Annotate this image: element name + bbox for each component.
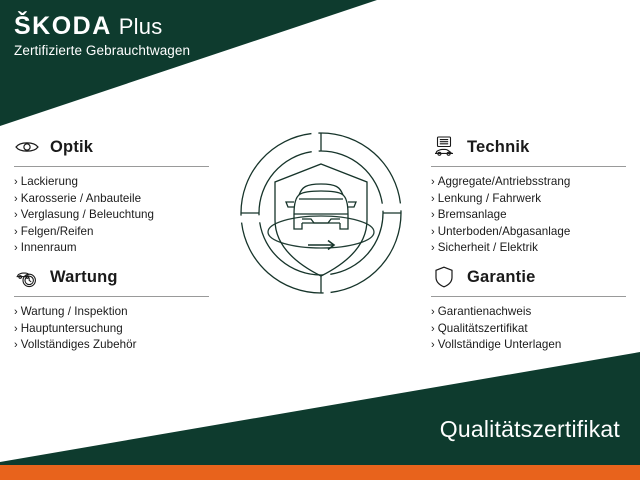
section-item-list: ›Lackierung ›Karosserie / Anbauteile ›Ve… bbox=[14, 174, 209, 257]
list-item: ›Verglasung / Beleuchtung bbox=[14, 207, 209, 224]
section-title: Optik bbox=[50, 138, 93, 157]
section-divider bbox=[431, 166, 626, 167]
list-item: ›Felgen/Reifen bbox=[14, 224, 209, 241]
section-title: Technik bbox=[467, 138, 530, 157]
list-item: ›Aggregate/Antriebsstrang bbox=[431, 174, 626, 191]
list-item-label: Unterboden/Abgasanlage bbox=[438, 225, 571, 238]
section-wartung: Wartung ›Wartung / Inspektion ›Hauptunte… bbox=[14, 262, 209, 354]
section-divider bbox=[14, 296, 209, 297]
list-item-label: Bremsanlage bbox=[438, 208, 507, 221]
section-optik: Optik ›Lackierung ›Karosserie / Anbautei… bbox=[14, 132, 209, 257]
list-item-label: Felgen/Reifen bbox=[21, 225, 94, 238]
brand-suffix: Plus bbox=[119, 16, 163, 38]
footer-headline: Qualitätszertifikat bbox=[440, 418, 620, 441]
list-item-label: Aggregate/Antriebsstrang bbox=[438, 175, 571, 188]
section-item-list: ›Aggregate/Antriebsstrang ›Lenkung / Fah… bbox=[431, 174, 626, 257]
list-item-label: Lenkung / Fahrwerk bbox=[438, 192, 541, 205]
chevron-right-icon: › bbox=[431, 176, 435, 188]
list-item: ›Lenkung / Fahrwerk bbox=[431, 191, 626, 208]
list-item-label: Verglasung / Beleuchtung bbox=[21, 208, 154, 221]
section-technik: Technik ›Aggregate/Antriebsstrang ›Lenku… bbox=[431, 132, 626, 257]
shield-icon bbox=[431, 264, 457, 290]
section-title: Wartung bbox=[50, 268, 118, 287]
chevron-right-icon: › bbox=[431, 226, 435, 238]
section-title: Garantie bbox=[467, 268, 536, 287]
list-item: ›Vollständige Unterlagen bbox=[431, 337, 626, 354]
list-item: ›Lackierung bbox=[14, 174, 209, 191]
brand-logo: ŠKODA Plus Zertifizierte Gebrauchtwagen bbox=[14, 14, 190, 59]
section-header: Wartung bbox=[14, 262, 209, 292]
list-item-label: Innenraum bbox=[21, 241, 77, 254]
brand-name: ŠKODA bbox=[14, 14, 112, 39]
certificate-page: ŠKODA Plus Zertifizierte Gebrauchtwagen … bbox=[0, 0, 640, 480]
chevron-right-icon: › bbox=[14, 323, 18, 335]
section-item-list: ›Wartung / Inspektion ›Hauptuntersuchung… bbox=[14, 304, 209, 354]
list-item: ›Unterboden/Abgasanlage bbox=[431, 224, 626, 241]
list-item-label: Sicherheit / Elektrik bbox=[438, 241, 538, 254]
list-item-label: Karosserie / Anbauteile bbox=[21, 192, 141, 205]
bottom-green-wedge bbox=[0, 340, 640, 466]
chevron-right-icon: › bbox=[14, 176, 18, 188]
list-item: ›Garantienachweis bbox=[431, 304, 626, 321]
list-item: ›Bremsanlage bbox=[431, 207, 626, 224]
brand-tagline: Zertifizierte Gebrauchtwagen bbox=[14, 44, 190, 59]
list-item-label: Garantienachweis bbox=[438, 305, 532, 318]
list-item: ›Sicherheit / Elektrik bbox=[431, 240, 626, 257]
chevron-right-icon: › bbox=[14, 209, 18, 221]
chevron-right-icon: › bbox=[14, 226, 18, 238]
section-header: Technik bbox=[431, 132, 626, 162]
shield-car-inspection-emblem bbox=[236, 128, 406, 298]
list-item: ›Karosserie / Anbauteile bbox=[14, 191, 209, 208]
section-divider bbox=[14, 166, 209, 167]
car-clock-icon bbox=[14, 264, 40, 290]
car-lift-icon bbox=[431, 134, 457, 160]
list-item-label: Vollständiges Zubehör bbox=[21, 338, 137, 351]
eye-icon bbox=[14, 134, 40, 160]
bottom-orange-bar bbox=[0, 465, 640, 480]
section-header: Optik bbox=[14, 132, 209, 162]
list-item: ›Innenraum bbox=[14, 240, 209, 257]
list-item-label: Lackierung bbox=[21, 175, 78, 188]
list-item: ›Wartung / Inspektion bbox=[14, 304, 209, 321]
chevron-right-icon: › bbox=[14, 193, 18, 205]
list-item-label: Vollständige Unterlagen bbox=[438, 338, 562, 351]
section-divider bbox=[431, 296, 626, 297]
chevron-right-icon: › bbox=[431, 193, 435, 205]
section-header: Garantie bbox=[431, 262, 626, 292]
section-garantie: Garantie ›Garantienachweis ›Qualitätszer… bbox=[431, 262, 626, 354]
chevron-right-icon: › bbox=[431, 306, 435, 318]
section-item-list: ›Garantienachweis ›Qualitätszertifikat ›… bbox=[431, 304, 626, 354]
list-item: ›Qualitätszertifikat bbox=[431, 321, 626, 338]
chevron-right-icon: › bbox=[431, 339, 435, 351]
list-item-label: Hauptuntersuchung bbox=[21, 322, 123, 335]
chevron-right-icon: › bbox=[431, 209, 435, 221]
list-item-label: Qualitätszertifikat bbox=[438, 322, 528, 335]
chevron-right-icon: › bbox=[14, 242, 18, 254]
list-item: ›Vollständiges Zubehör bbox=[14, 337, 209, 354]
chevron-right-icon: › bbox=[14, 339, 18, 351]
brand-logo-line: ŠKODA Plus bbox=[14, 14, 190, 39]
chevron-right-icon: › bbox=[431, 242, 435, 254]
chevron-right-icon: › bbox=[431, 323, 435, 335]
chevron-right-icon: › bbox=[14, 306, 18, 318]
list-item: ›Hauptuntersuchung bbox=[14, 321, 209, 338]
list-item-label: Wartung / Inspektion bbox=[21, 305, 128, 318]
